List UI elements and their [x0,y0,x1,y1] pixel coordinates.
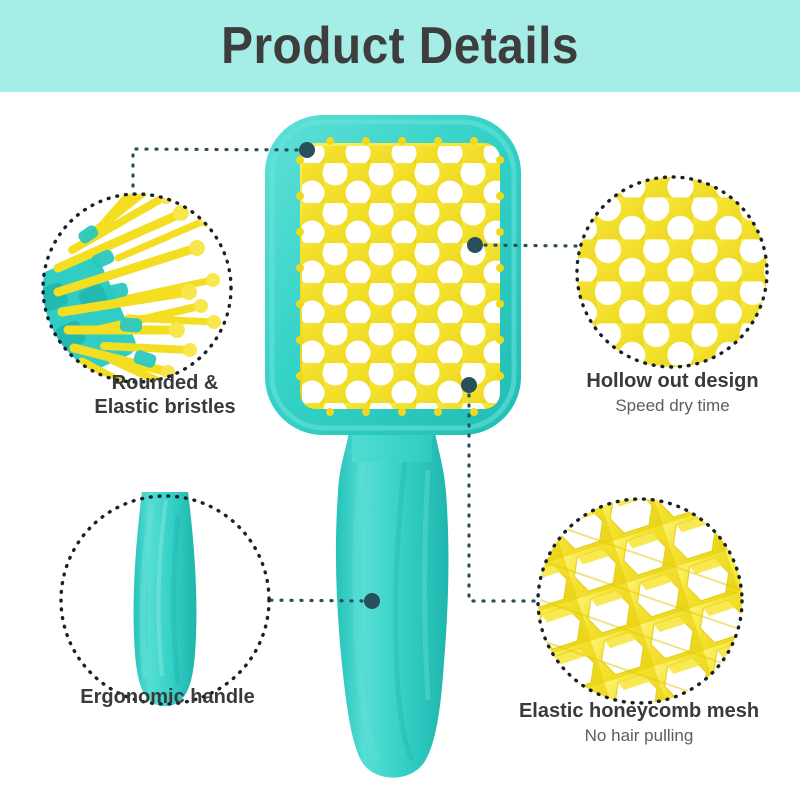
callout-bubble-bristles [18,175,231,405]
caption-handle: Ergonomic handle [35,686,300,710]
caption-hollow: Hollow out design Speed dry time [545,370,800,416]
caption-handle-title: Ergonomic handle [35,686,300,710]
caption-bristles: Rounded & Elastic bristles [10,372,320,419]
anchor-dot-handle [364,593,380,609]
caption-mesh-title: Elastic honeycomb mesh [478,700,800,724]
callout-bubble-handle [61,492,269,706]
anchor-dot-bristles [299,142,315,158]
caption-mesh: Elastic honeycomb mesh No hair pulling [478,700,800,746]
anchor-dot-mesh [461,377,477,393]
callout-bubble-hollow [567,166,783,382]
brush-pad [296,137,504,416]
caption-bristles-title-line1: Rounded & [10,372,320,396]
product-details-infographic: Product Details [0,0,800,800]
callout-bubble-mesh [510,470,772,732]
caption-mesh-subtitle: No hair pulling [478,726,800,746]
caption-hollow-subtitle: Speed dry time [545,396,800,416]
anchor-dot-hollow [467,237,483,253]
caption-hollow-title: Hollow out design [545,370,800,394]
caption-bristles-title-line2: Elastic bristles [10,396,320,420]
